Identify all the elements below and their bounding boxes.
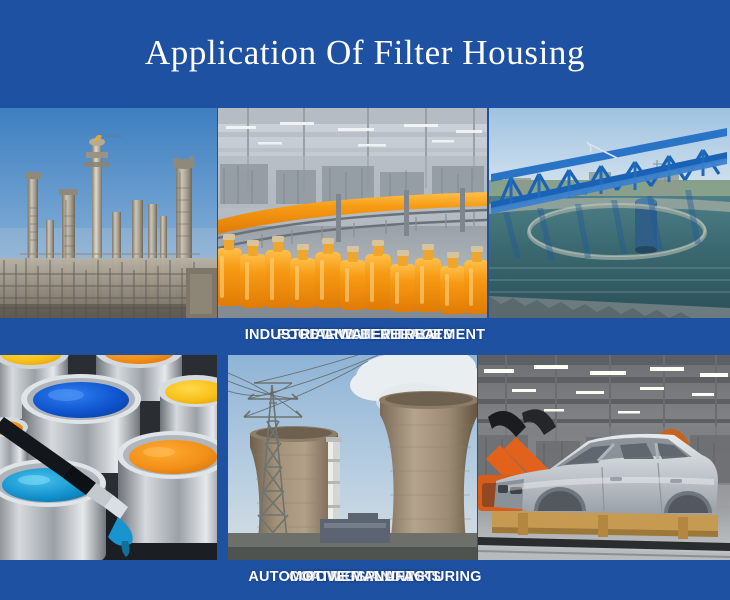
grid-cell-food-and-beverages[interactable] bbox=[218, 108, 487, 318]
application-grid: PETROCHEMICALS bbox=[0, 108, 730, 600]
image-automotive-manufacturing bbox=[478, 355, 730, 560]
image-power-plants bbox=[228, 355, 477, 560]
caption-automotive-manufacturing: AUTOMOTIVE MANUFACTURING bbox=[0, 560, 730, 594]
image-industrial-water-treatment bbox=[489, 108, 730, 318]
grid-cell-petrochemicals[interactable] bbox=[0, 108, 217, 318]
poster-root: Application Of Filter Housing bbox=[0, 0, 730, 600]
grid-cell-industrial-water-treatment[interactable] bbox=[489, 108, 730, 318]
caption-industrial-water-treatment: INDUSTRIAL WATER TREATMENT bbox=[0, 318, 730, 352]
image-petrochemicals bbox=[0, 108, 217, 318]
grid-cell-coatings-and-inks[interactable] bbox=[0, 355, 217, 560]
caption-label: INDUSTRIAL WATER TREATMENT bbox=[245, 327, 485, 343]
grid-cell-power-plants[interactable] bbox=[228, 355, 477, 560]
grid-cell-automotive-manufacturing[interactable] bbox=[478, 355, 730, 560]
page-title: Application Of Filter Housing bbox=[145, 35, 585, 70]
image-coatings-and-inks bbox=[0, 355, 217, 560]
caption-label: AUTOMOTIVE MANUFACTURING bbox=[248, 569, 481, 585]
title-bar: Application Of Filter Housing bbox=[0, 0, 730, 108]
image-food-and-beverages bbox=[218, 108, 487, 318]
